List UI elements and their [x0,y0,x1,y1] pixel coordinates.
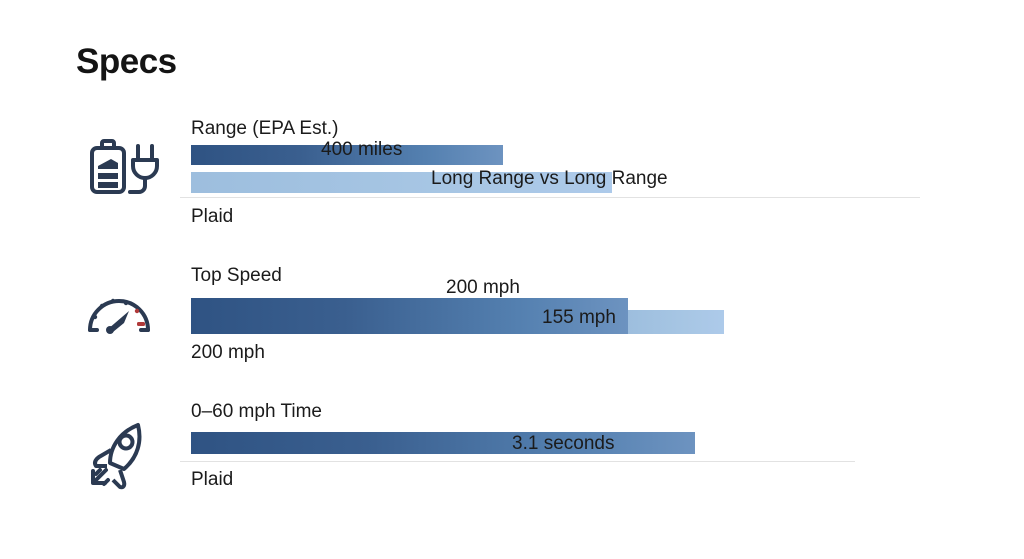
bar-value-plaid-top-speed: 200 mph [446,277,520,299]
rocket-icon [80,413,168,493]
bar-longrange-top-speed [628,310,724,334]
section-divider-zero-sixty [180,461,855,462]
bar-value-plaid-zero-sixty: 3.1 seconds [512,433,614,455]
sub-label-range: Plaid [191,206,233,228]
spec-label-range: Range (EPA Est.) [191,118,339,140]
spec-label-zero-sixty: 0–60 mph Time [191,401,322,423]
sub-label-zero-sixty: Plaid [191,469,233,491]
section-divider-range [180,197,920,198]
battery-charging-icon [80,130,168,210]
sub-label-top-speed: 200 mph [191,342,265,364]
page-title: Specs [76,44,177,79]
bar-value-plaid-range: 400 miles [321,139,402,161]
bar-legend-range: Long Range vs Long Range [431,168,668,190]
spec-label-top-speed: Top Speed [191,265,282,287]
bar-value-longrange-top-speed: 155 mph [542,307,616,329]
bar-plaid-zero-sixty [191,432,695,454]
speedometer-icon [80,277,168,357]
